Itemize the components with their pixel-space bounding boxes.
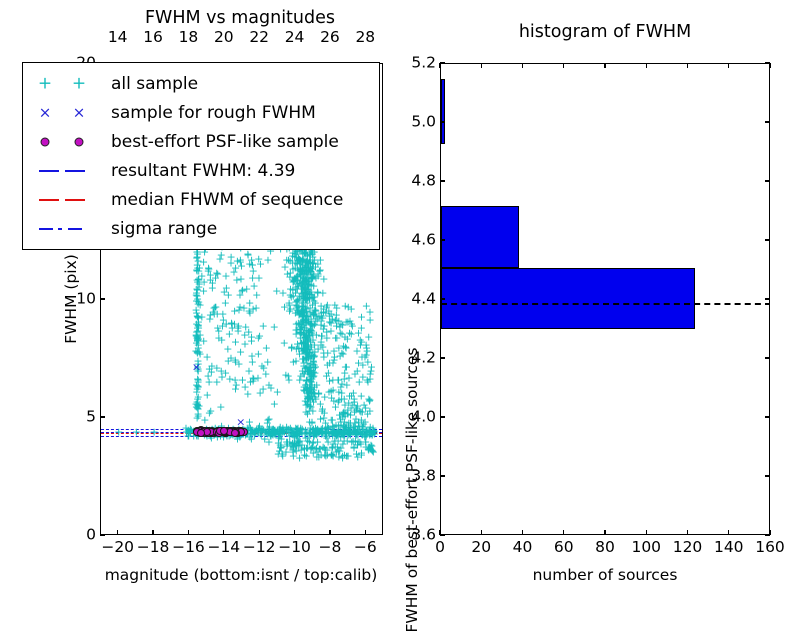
scatter-point-all-sample: + (228, 425, 237, 436)
scatter-point-all-sample: + (323, 422, 332, 433)
scatter-point-all-sample: + (301, 287, 310, 298)
scatter-point-all-sample: + (310, 429, 319, 440)
scatter-point-all-sample: + (341, 301, 350, 312)
scatter-point-all-sample: + (323, 299, 332, 310)
scatter-point-all-sample: + (254, 423, 263, 434)
scatter-point-all-sample: + (272, 286, 281, 297)
scatter-point-all-sample: + (193, 384, 202, 395)
scatter-point-all-sample: + (208, 427, 217, 438)
scatter-point-all-sample: + (370, 429, 379, 440)
scatter-point-all-sample: + (296, 424, 305, 435)
scatter-point-all-sample: + (310, 359, 319, 370)
scatter-point-all-sample: + (318, 422, 327, 433)
scatter-point-all-sample: + (298, 301, 307, 312)
scatter-point-all-sample: + (355, 437, 364, 448)
scatter-point-all-sample: + (346, 425, 355, 436)
scatter-point-all-sample: + (328, 428, 337, 439)
scatter-point-all-sample: + (348, 321, 357, 332)
scatter-point-all-sample: + (308, 406, 317, 417)
scatter-point-all-sample: + (293, 275, 302, 286)
scatter-point-all-sample: + (314, 428, 323, 439)
legend-item-label: sample for rough FWHM (105, 103, 316, 123)
scatter-point-all-sample: + (303, 367, 312, 378)
scatter-point-all-sample: + (247, 331, 256, 342)
scatter-point-all-sample: + (312, 379, 321, 390)
scatter-point-all-sample: + (259, 384, 268, 395)
axis-tick (765, 416, 770, 417)
scatter-point-all-sample: + (239, 302, 248, 313)
scatter-point-all-sample: + (346, 426, 355, 437)
scatter-point-all-sample: + (301, 318, 310, 329)
scatter-point-all-sample: + (213, 427, 222, 438)
scatter-point-all-sample: + (362, 426, 371, 437)
scatter-point-all-sample: + (233, 426, 242, 437)
scatter-point-all-sample: + (262, 342, 271, 353)
scatter-point-all-sample: + (285, 431, 294, 442)
scatter-point-all-sample: + (205, 407, 214, 418)
scatter-point-psf-like (218, 428, 226, 436)
scatter-point-all-sample: + (293, 430, 302, 441)
cross-icon: × (39, 105, 52, 120)
scatter-point-all-sample: + (367, 361, 376, 372)
scatter-point-all-sample: + (326, 318, 335, 329)
scatter-point-all-sample: + (218, 308, 227, 319)
tick-label-bottom: 140 (714, 540, 744, 556)
scatter-point-all-sample: + (292, 257, 301, 268)
scatter-point-all-sample: + (293, 304, 302, 315)
scatter-point-all-sample: + (368, 428, 377, 439)
scatter-point-all-sample: + (344, 428, 353, 439)
scatter-point-all-sample: + (319, 348, 328, 359)
scatter-point-all-sample: + (329, 354, 338, 365)
scatter-point-all-sample: + (308, 292, 317, 303)
scatter-point-all-sample: + (194, 298, 203, 309)
scatter-point-all-sample: + (307, 274, 316, 285)
scatter-point-all-sample: + (217, 428, 226, 439)
scatter-point-psf-like (211, 428, 219, 436)
scatter-point-all-sample: + (343, 450, 352, 461)
scatter-point-all-sample: + (312, 329, 321, 340)
scatter-point-all-sample: + (292, 424, 301, 435)
scatter-point-all-sample: + (342, 361, 351, 372)
scatter-point-all-sample: + (307, 386, 316, 397)
scatter-point-all-sample: + (233, 255, 242, 266)
scatter-point-all-sample: + (301, 433, 310, 444)
scatter-point-all-sample: + (297, 309, 306, 320)
scatter-point-all-sample: + (301, 267, 310, 278)
scatter-point-all-sample: + (368, 429, 377, 440)
scatter-point-all-sample: + (302, 260, 311, 271)
scatter-point-all-sample: + (199, 335, 208, 346)
scatter-point-all-sample: + (132, 427, 141, 438)
scatter-point-all-sample: + (362, 342, 371, 353)
scatter-point-all-sample: + (336, 414, 345, 425)
scatter-point-psf-like (236, 427, 244, 435)
scatter-point-psf-like (205, 429, 213, 437)
scatter-point-all-sample: + (303, 367, 312, 378)
scatter-point-all-sample: + (303, 400, 312, 411)
scatter-point-all-sample: + (263, 415, 272, 426)
scatter-point-all-sample: + (310, 389, 319, 400)
legend-symbol-dot-icon (29, 130, 105, 154)
scatter-point-all-sample: + (234, 304, 243, 315)
scatter-point-all-sample: + (196, 428, 205, 439)
scatter-point-all-sample: + (332, 333, 341, 344)
legend-item[interactable]: resultant FWHM: 4.39 (29, 156, 371, 185)
scatter-point-psf-like (237, 428, 245, 436)
dot-icon (75, 137, 84, 146)
scatter-point-all-sample: + (193, 311, 202, 322)
scatter-point-psf-like (203, 428, 211, 436)
scatter-point-all-sample: + (309, 352, 318, 363)
scatter-point-all-sample: + (300, 333, 309, 344)
scatter-point-all-sample: + (240, 329, 249, 340)
scatter-point-all-sample: + (193, 333, 202, 344)
scatter-point-all-sample: + (300, 269, 309, 280)
scatter-point-all-sample: + (239, 428, 248, 439)
scatter-point-all-sample: + (304, 326, 313, 337)
scatter-point-all-sample: + (318, 403, 327, 414)
scatter-point-all-sample: + (298, 280, 307, 291)
scatter-point-all-sample: + (305, 379, 314, 390)
scatter-point-all-sample: + (329, 346, 338, 357)
scatter-point-psf-like (214, 428, 222, 436)
scatter-point-all-sample: + (361, 441, 370, 452)
scatter-point-all-sample: + (336, 328, 345, 339)
scatter-point-all-sample: + (278, 425, 287, 436)
scatter-point-all-sample: + (311, 423, 320, 434)
scatter-point-all-sample: + (366, 443, 375, 454)
scatter-point-all-sample: + (304, 286, 313, 297)
scatter-point-all-sample: + (298, 424, 307, 435)
scatter-point-all-sample: + (365, 442, 374, 453)
scatter-point-all-sample: + (210, 424, 219, 435)
scatter-point-rough-fwhm: × (192, 362, 201, 373)
scatter-point-all-sample: + (309, 430, 318, 441)
scatter-point-all-sample: + (331, 429, 340, 440)
scatter-point-psf-like (227, 427, 235, 435)
scatter-point-all-sample: + (276, 429, 285, 440)
scatter-point-all-sample: + (302, 314, 311, 325)
tick-label-y: 4.4 (396, 291, 436, 307)
scatter-point-all-sample: + (182, 426, 191, 437)
scatter-point-all-sample: + (300, 282, 309, 293)
scatter-point-all-sample: + (358, 421, 367, 432)
scatter-point-all-sample: + (346, 409, 355, 420)
scatter-point-all-sample: + (306, 354, 315, 365)
scatter-point-all-sample: + (199, 257, 208, 268)
scatter-point-all-sample: + (193, 335, 202, 346)
scatter-point-all-sample: + (327, 414, 336, 425)
scatter-point-all-sample: + (304, 352, 313, 363)
scatter-point-psf-like (219, 428, 227, 436)
scatter-point-all-sample: + (311, 315, 320, 326)
scatter-point-psf-like (193, 427, 201, 435)
scatter-point-all-sample: + (303, 292, 312, 303)
axis-tick (481, 63, 482, 68)
scatter-point-all-sample: + (289, 439, 298, 450)
scatter-point-psf-like (199, 428, 207, 436)
scatter-point-all-sample: + (300, 330, 309, 341)
scatter-point-all-sample: + (364, 332, 373, 343)
scatter-point-all-sample: + (246, 423, 255, 434)
scatter-point-all-sample: + (306, 427, 315, 438)
scatter-point-all-sample: + (317, 426, 326, 437)
scatter-point-all-sample: + (303, 436, 312, 447)
scatter-point-all-sample: + (337, 428, 346, 439)
scatter-point-all-sample: + (309, 362, 318, 373)
scatter-point-all-sample: + (317, 331, 326, 342)
scatter-point-all-sample: + (227, 428, 236, 439)
scatter-point-psf-like (197, 429, 205, 437)
scatter-point-all-sample: + (193, 274, 202, 285)
scatter-point-all-sample: + (331, 332, 340, 343)
scatter-point-all-sample: + (327, 308, 336, 319)
scatter-point-all-sample: + (305, 393, 314, 404)
scatter-point-all-sample: + (299, 314, 308, 325)
scatter-point-all-sample: + (226, 352, 235, 363)
scatter-point-all-sample: + (299, 254, 308, 265)
scatter-point-all-sample: + (302, 285, 311, 296)
tick-label-bottom: 20 (471, 540, 491, 556)
scatter-point-all-sample: + (235, 429, 244, 440)
scatter-point-all-sample: + (297, 279, 306, 290)
scatter-point-psf-like (204, 427, 212, 435)
scatter-point-all-sample: + (254, 254, 263, 265)
scatter-point-all-sample: + (192, 330, 201, 341)
scatter-point-all-sample: + (307, 368, 316, 379)
scatter-point-all-sample: + (309, 292, 318, 303)
scatter-point-all-sample: + (306, 402, 315, 413)
scatter-point-all-sample: + (303, 334, 312, 345)
scatter-point-all-sample: + (357, 390, 366, 401)
tick-label-top: 16 (143, 30, 163, 46)
scatter-point-psf-like (203, 428, 211, 436)
scatter-point-psf-like (216, 428, 224, 436)
scatter-point-all-sample: + (192, 295, 201, 306)
scatter-point-all-sample: + (212, 267, 221, 278)
scatter-point-all-sample: + (303, 394, 312, 405)
scatter-point-all-sample: + (194, 273, 203, 284)
scatter-point-all-sample: + (307, 266, 316, 277)
scatter-point-all-sample: + (191, 346, 200, 357)
scatter-point-all-sample: + (302, 375, 311, 386)
scatter-point-all-sample: + (304, 342, 313, 353)
legend-item[interactable]: ××sample for rough FWHM (29, 98, 371, 127)
scatter-point-psf-like (208, 428, 216, 436)
scatter-point-all-sample: + (307, 342, 316, 353)
scatter-point-all-sample: + (200, 427, 209, 438)
scatter-point-all-sample: + (300, 266, 309, 277)
scatter-point-all-sample: + (230, 429, 239, 440)
scatter-point-all-sample: + (315, 425, 324, 436)
scatter-point-all-sample: + (195, 346, 204, 357)
scatter-point-all-sample: + (194, 391, 203, 402)
scatter-point-all-sample: + (351, 414, 360, 425)
axis-tick (765, 239, 770, 240)
scatter-point-all-sample: + (231, 383, 240, 394)
scatter-point-all-sample: + (331, 420, 340, 431)
scatter-point-all-sample: + (314, 426, 323, 437)
scatter-point-all-sample: + (350, 407, 359, 418)
scatter-point-all-sample: + (310, 428, 319, 439)
scatter-point-all-sample: + (286, 255, 295, 266)
scatter-point-all-sample: + (325, 358, 334, 369)
scatter-point-all-sample: + (204, 264, 213, 275)
scatter-point-all-sample: + (289, 428, 298, 439)
scatter-point-psf-like (196, 427, 204, 435)
scatter-point-all-sample: + (296, 269, 305, 280)
scatter-point-all-sample: + (347, 403, 356, 414)
scatter-point-all-sample: + (289, 277, 298, 288)
scatter-point-all-sample: + (273, 387, 282, 398)
scatter-point-all-sample: + (198, 427, 207, 438)
scatter-point-all-sample: + (231, 357, 240, 368)
scatter-point-all-sample: + (244, 365, 253, 376)
scatter-point-all-sample: + (304, 332, 313, 343)
scatter-point-all-sample: + (227, 317, 236, 328)
scatter-point-psf-like (224, 427, 232, 435)
scatter-point-all-sample: + (270, 427, 279, 438)
scatter-point-psf-like (231, 428, 239, 436)
scatter-point-all-sample: + (320, 450, 329, 461)
scatter-point-all-sample: + (206, 430, 215, 441)
tick-label-y: 5.0 (396, 114, 436, 130)
scatter-point-psf-like (209, 428, 217, 436)
scatter-point-all-sample: + (195, 424, 204, 435)
scatter-point-all-sample: + (296, 325, 305, 336)
scatter-point-all-sample: + (290, 275, 299, 286)
scatter-point-all-sample: + (313, 287, 322, 298)
scatter-point-all-sample: + (344, 425, 353, 436)
scatter-point-all-sample: + (269, 427, 278, 438)
axis-tick (188, 530, 189, 535)
scatter-point-all-sample: + (278, 426, 287, 437)
scatter-point-all-sample: + (235, 428, 244, 439)
scatter-point-all-sample: + (304, 258, 313, 269)
scatter-point-all-sample: + (301, 379, 310, 390)
scatter-point-all-sample: + (340, 450, 349, 461)
scatter-point-all-sample: + (302, 341, 311, 352)
scatter-point-all-sample: + (317, 337, 326, 348)
scatter-point-psf-like (231, 427, 239, 435)
legend-item[interactable]: best-effort PSF-like sample (29, 127, 371, 156)
scatter-point-all-sample: + (284, 374, 293, 385)
scatter-point-all-sample: + (340, 373, 349, 384)
scatter-point-all-sample: + (222, 318, 231, 329)
scatter-point-all-sample: + (192, 330, 201, 341)
scatter-point-all-sample: + (292, 328, 301, 339)
tick-label-y: 5.2 (396, 55, 436, 71)
scatter-point-all-sample: + (334, 396, 343, 407)
scatter-point-all-sample: + (288, 258, 297, 269)
axis-tick (440, 298, 445, 299)
scatter-point-all-sample: + (248, 356, 257, 367)
scatter-point-all-sample: + (274, 437, 283, 448)
scatter-point-all-sample: + (322, 427, 331, 438)
scatter-point-all-sample: + (297, 337, 306, 348)
scatter-point-all-sample: + (199, 425, 208, 436)
scatter-point-all-sample: + (306, 267, 315, 278)
plot-legend[interactable]: ++all sample××sample for rough FWHMbest-… (22, 62, 380, 250)
scatter-point-psf-like (211, 428, 219, 436)
legend-item[interactable]: ++all sample (29, 69, 371, 98)
scatter-point-all-sample: + (224, 427, 233, 438)
scatter-point-all-sample: + (304, 339, 313, 350)
scatter-point-all-sample: + (270, 428, 279, 439)
scatter-point-all-sample: + (295, 327, 304, 338)
scatter-point-all-sample: + (217, 372, 226, 383)
scatter-point-all-sample: + (276, 421, 285, 432)
scatter-point-psf-like (207, 428, 215, 436)
scatter-point-all-sample: + (327, 427, 336, 438)
scatter-point-all-sample: + (315, 426, 324, 437)
scatter-point-all-sample: + (247, 255, 256, 266)
scatter-point-all-sample: + (369, 427, 378, 438)
scatter-point-all-sample: + (347, 304, 356, 315)
scatter-point-all-sample: + (306, 363, 315, 374)
scatter-point-all-sample: + (307, 416, 316, 427)
scatter-point-all-sample: + (293, 265, 302, 276)
scatter-point-all-sample: + (339, 349, 348, 360)
scatter-point-all-sample: + (293, 436, 302, 447)
scatter-point-all-sample: + (264, 379, 273, 390)
scatter-point-all-sample: + (202, 429, 211, 440)
legend-item[interactable]: sigma range (29, 214, 371, 243)
scatter-point-all-sample: + (344, 430, 353, 441)
scatter-point-psf-like (234, 427, 242, 435)
scatter-point-all-sample: + (244, 422, 253, 433)
scatter-point-all-sample: + (336, 319, 345, 330)
scatter-point-all-sample: + (273, 425, 282, 436)
scatter-point-all-sample: + (358, 430, 367, 441)
scatter-point-all-sample: + (335, 321, 344, 332)
scatter-point-all-sample: + (295, 309, 304, 320)
legend-item-label: resultant FWHM: 4.39 (105, 161, 295, 181)
scatter-point-all-sample: + (248, 372, 257, 383)
scatter-point-psf-like (229, 428, 237, 436)
scatter-point-all-sample: + (357, 426, 366, 437)
scatter-point-all-sample: + (299, 345, 308, 356)
scatter-point-all-sample: + (291, 262, 300, 273)
scatter-point-all-sample: + (368, 422, 377, 433)
scatter-point-all-sample: + (290, 431, 299, 442)
scatter-point-all-sample: + (304, 353, 313, 364)
scatter-point-psf-like (222, 428, 230, 436)
scatter-point-all-sample: + (308, 251, 317, 262)
scatter-point-all-sample: + (303, 258, 312, 269)
scatter-point-all-sample: + (281, 446, 290, 457)
scatter-point-all-sample: + (365, 406, 374, 417)
scatter-point-all-sample: + (328, 358, 337, 369)
scatter-point-all-sample: + (315, 444, 324, 455)
scatter-point-all-sample: + (339, 428, 348, 439)
scatter-point-all-sample: + (325, 428, 334, 439)
scatter-point-all-sample: + (332, 447, 341, 458)
scatter-point-all-sample: + (314, 343, 323, 354)
legend-item[interactable]: median FHWM of sequence (29, 185, 371, 214)
scatter-point-all-sample: + (217, 366, 226, 377)
scatter-point-all-sample: + (340, 400, 349, 411)
scatter-point-all-sample: + (248, 273, 257, 284)
right-plot-axes[interactable] (440, 63, 770, 535)
scatter-point-all-sample: + (352, 403, 361, 414)
scatter-point-all-sample: + (186, 427, 195, 438)
axis-tick (646, 530, 647, 535)
scatter-point-all-sample: + (234, 428, 243, 439)
scatter-point-all-sample: + (365, 424, 374, 435)
scatter-point-all-sample: + (305, 383, 314, 394)
